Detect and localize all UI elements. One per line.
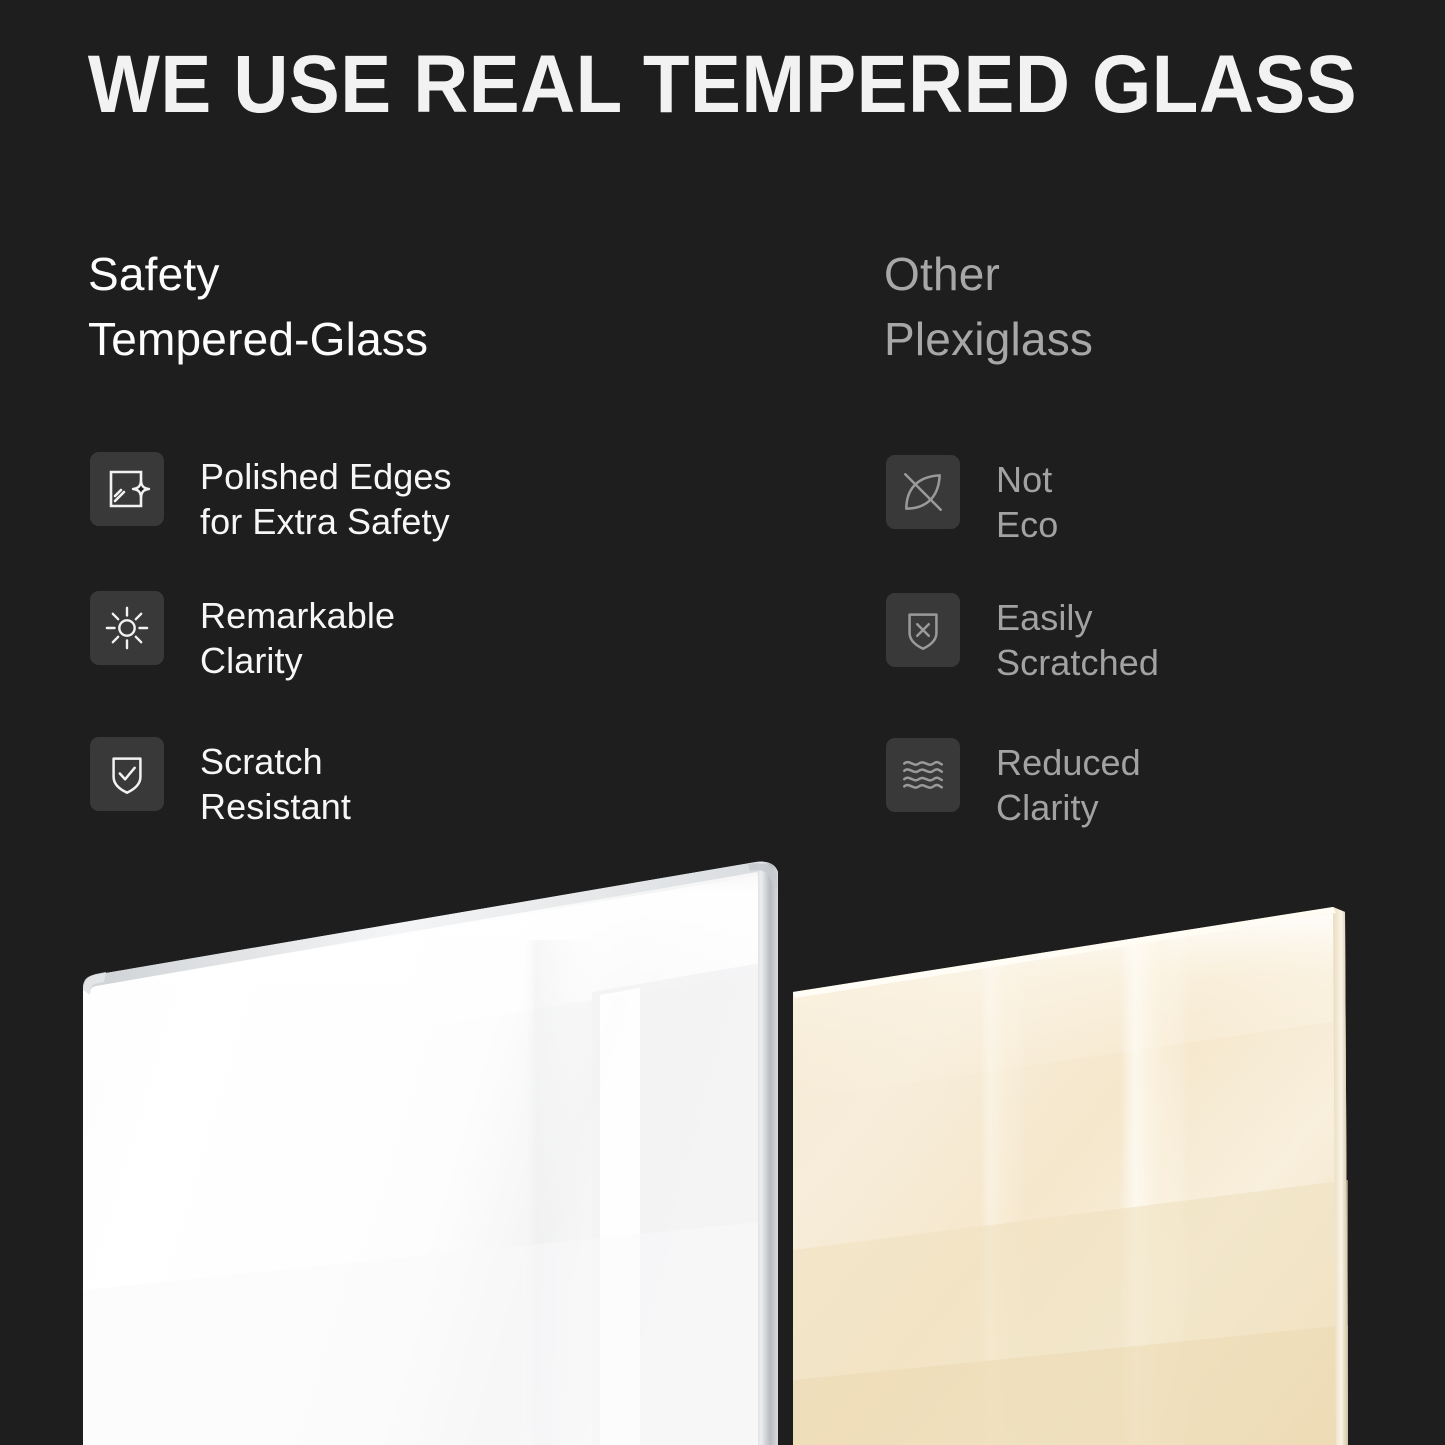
feature-label: Not Eco (996, 455, 1058, 547)
glass-panels-photo (0, 820, 1445, 1445)
feature-row-scratch-resistant: Scratch Resistant (90, 737, 351, 829)
feature-label: Polished Edges for Extra Safety (200, 452, 452, 544)
tempered-glass-panel (83, 862, 778, 1445)
plexiglass-panel (793, 900, 1348, 1445)
feature-label: Reduced Clarity (996, 738, 1141, 830)
column-title-plexiglass: Other Plexiglass (884, 242, 1093, 373)
feature-row-easily-scratched: Easily Scratched (886, 593, 1159, 685)
feature-label: Scratch Resistant (200, 737, 351, 829)
leaf-crossed-out-icon (886, 455, 960, 529)
feature-label: Easily Scratched (996, 593, 1159, 685)
comparison-infographic: WE USE REAL TEMPERED GLASS Safety Temper… (0, 0, 1445, 1445)
feature-row-remarkable-clarity: Remarkable Clarity (90, 591, 395, 683)
shield-x-icon (886, 593, 960, 667)
column-title-tempered-glass: Safety Tempered-Glass (88, 242, 428, 373)
feature-row-reduced-clarity: Reduced Clarity (886, 738, 1141, 830)
page-title: WE USE REAL TEMPERED GLASS (51, 38, 1395, 132)
feature-row-polished-edges: Polished Edges for Extra Safety (90, 452, 452, 544)
sun-clarity-icon (90, 591, 164, 665)
polished-edge-sparkle-icon (90, 452, 164, 526)
feature-label: Remarkable Clarity (200, 591, 395, 683)
shield-check-icon (90, 737, 164, 811)
feature-row-not-eco: Not Eco (886, 455, 1058, 547)
wavy-lines-icon (886, 738, 960, 812)
